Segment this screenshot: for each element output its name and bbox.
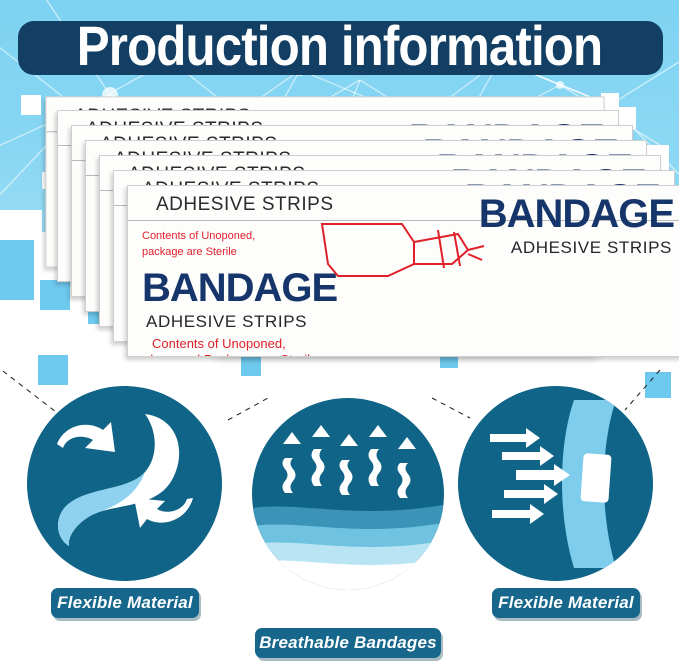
feature-circle-breathable <box>252 398 444 590</box>
feature-label-flexible-right: Flexible Material <box>492 588 640 618</box>
product-infographic: Production information ADHESIVE STRIPS C… <box>0 0 679 665</box>
feature-label-breathable: Breathable Bandages <box>255 628 441 658</box>
pack-footer-line1: Contents of Unoponed, <box>152 336 286 351</box>
page-title-text: Production information <box>48 13 631 79</box>
pack-footer-line2: damaged Package are Sterile <box>146 352 317 357</box>
page-title: Production information <box>8 13 671 79</box>
bandaged-foot-art-icon <box>318 220 538 295</box>
pack-subtitle: ADHESIVE STRIPS <box>146 312 307 332</box>
bandage-pack-stack: ADHESIVE STRIPS Contents of Unoponed, pa… <box>30 96 679 366</box>
breathable-fabric-airflow-icon <box>252 398 444 590</box>
bandage-pack: ADHESIVE STRIPS Contents of Unoponed, pa… <box>127 185 679 357</box>
feature-label-flexible-left: Flexible Material <box>51 588 199 618</box>
pack-warning-line2: package are Sterile <box>142 246 237 258</box>
twisting-bandage-rotation-arrows-icon <box>27 386 222 581</box>
pack-strips-top: ADHESIVE STRIPS <box>156 194 334 216</box>
pack-warning-line1: Contents of Unoponed, <box>142 230 255 242</box>
feature-circle-flexible-right <box>458 386 653 581</box>
pack-brand: BANDAGE <box>142 266 337 311</box>
feature-circle-flexible-left <box>27 386 222 581</box>
arrows-pressing-flexible-strip-icon <box>458 386 653 581</box>
square-decor <box>0 240 34 300</box>
